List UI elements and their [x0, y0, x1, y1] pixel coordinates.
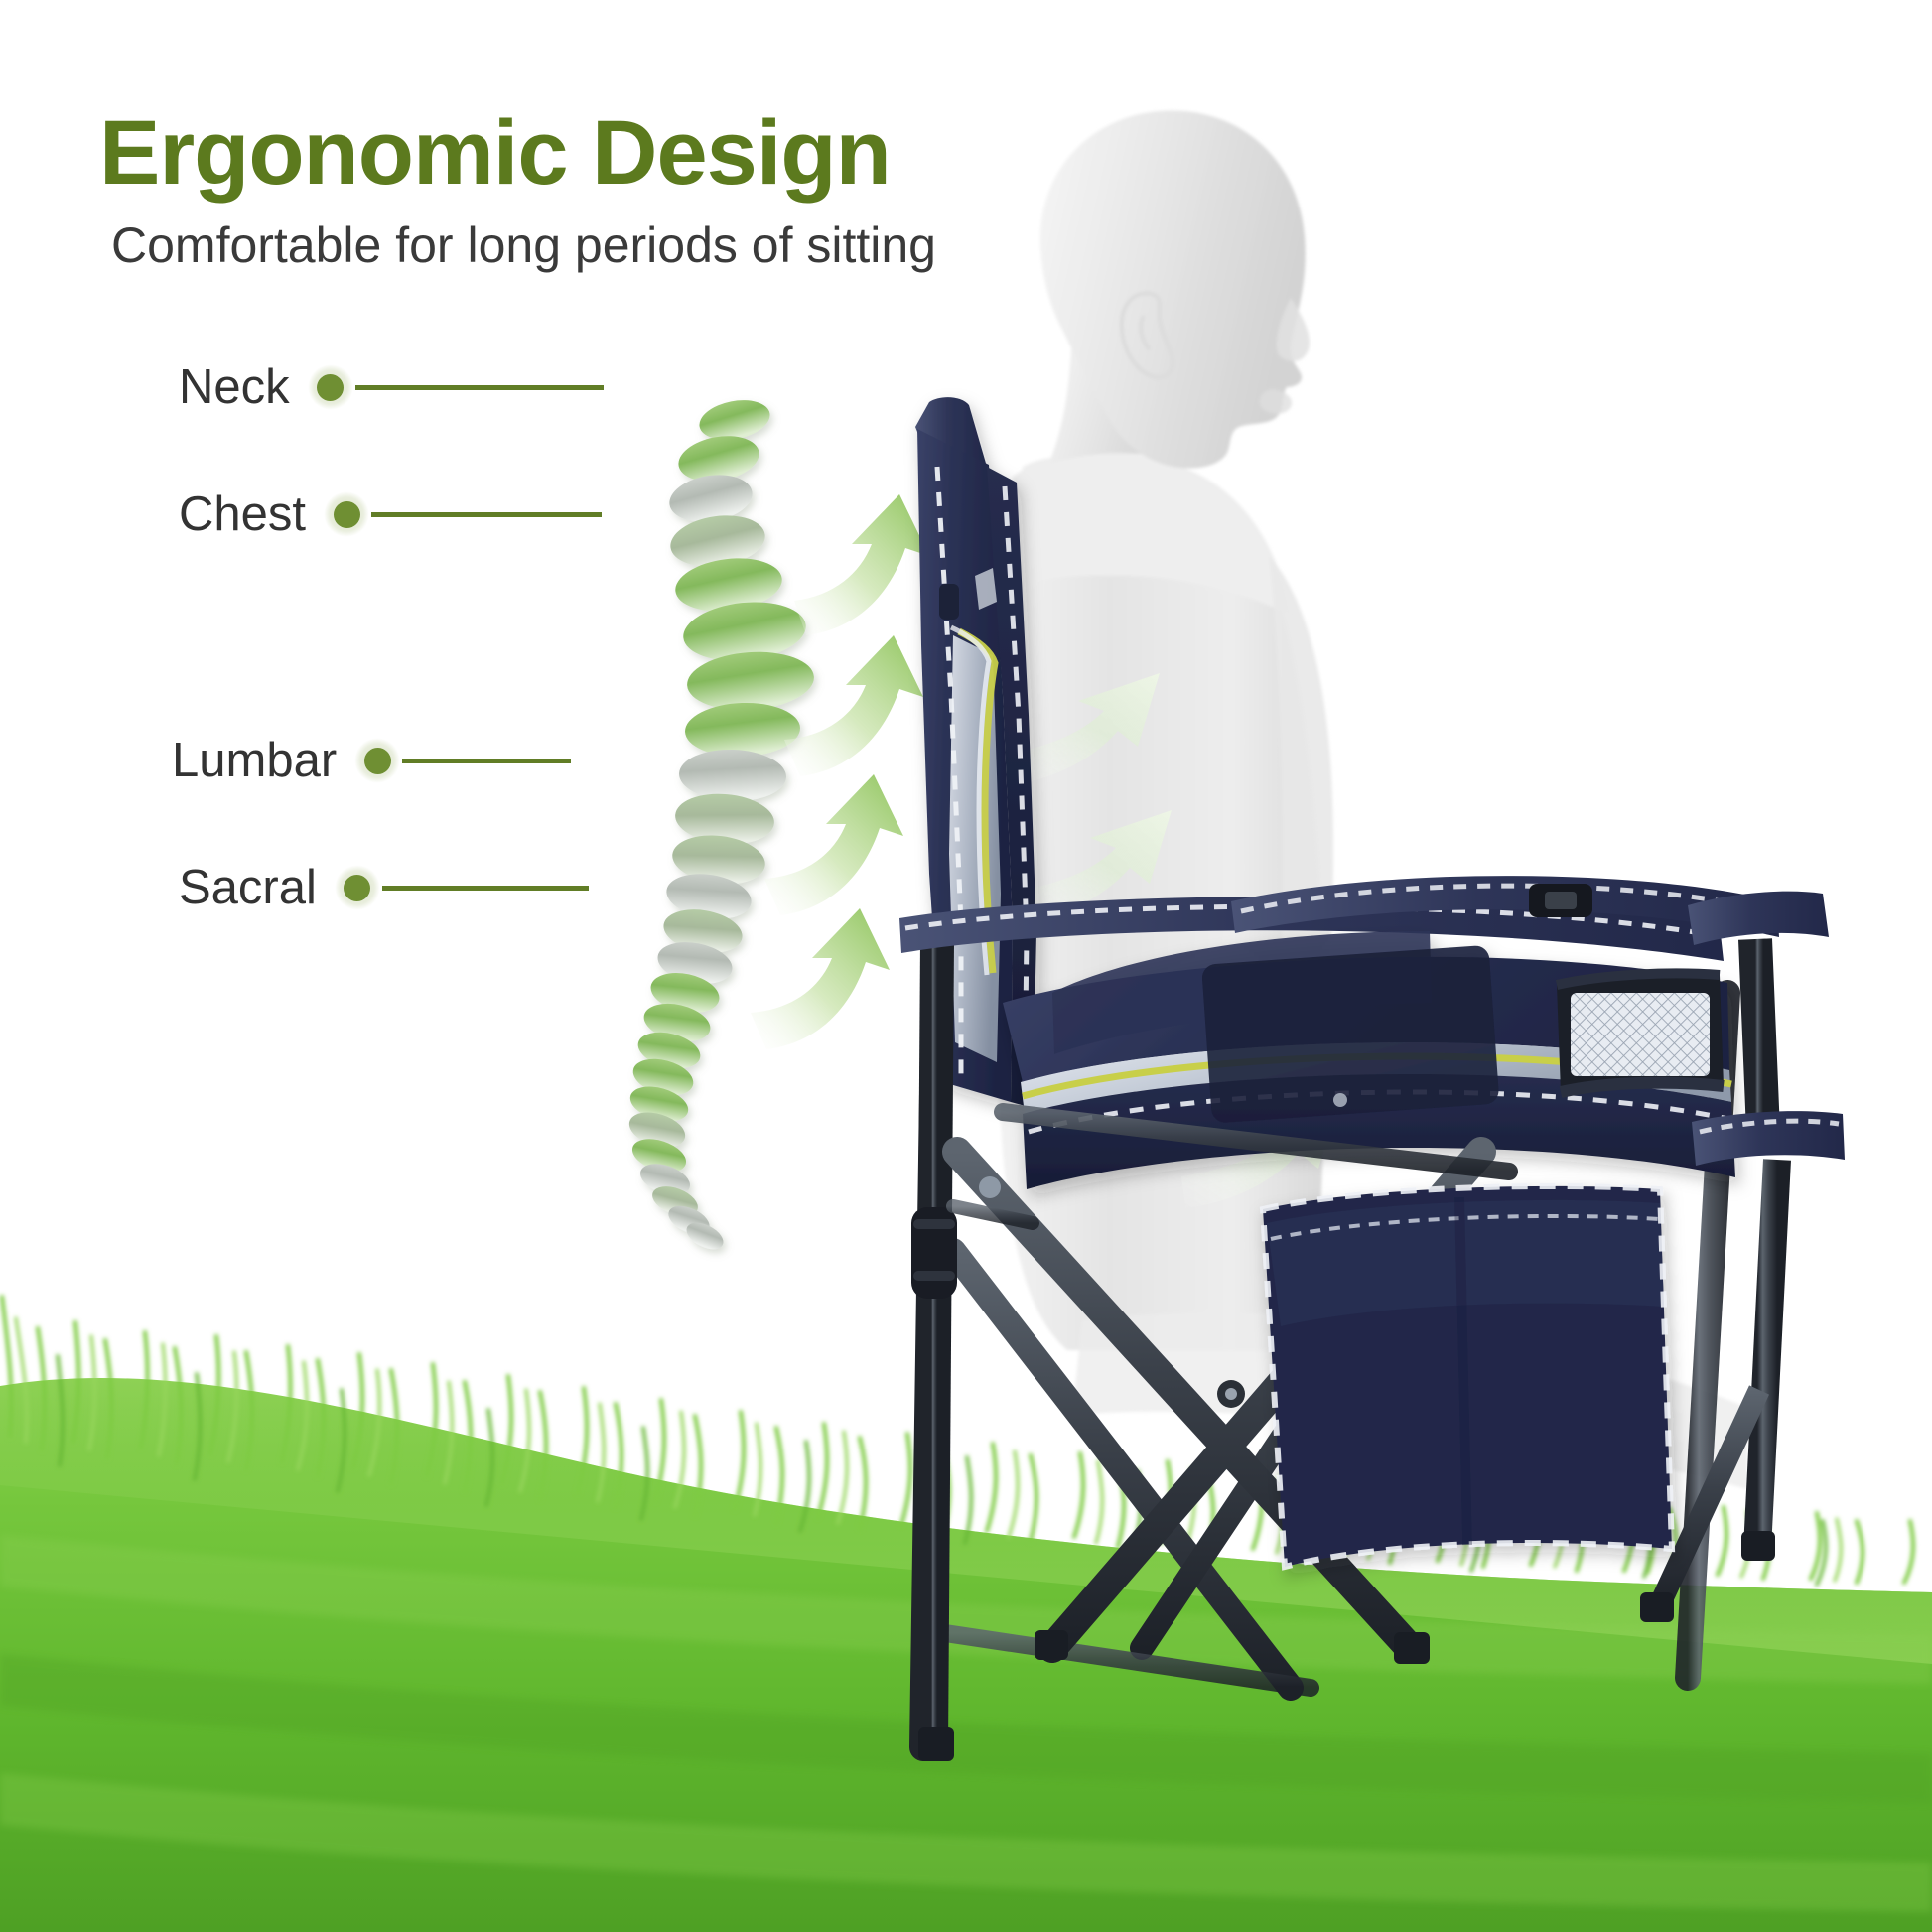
- callout-leader-line: [402, 759, 571, 763]
- page-subtitle: Comfortable for long periods of sitting: [111, 220, 936, 270]
- callout-leader-line: [355, 385, 604, 390]
- callout-leader-line: [382, 886, 589, 891]
- dot-core: [364, 748, 391, 774]
- callout-leader-line: [371, 512, 602, 517]
- callout-marker-dot[interactable]: [308, 364, 353, 410]
- callout-sacral[interactable]: Sacral: [179, 858, 589, 917]
- dot-core: [317, 374, 344, 401]
- callout-marker-dot[interactable]: [354, 738, 400, 783]
- callout-label: Lumbar: [172, 733, 337, 788]
- callout-marker-dot[interactable]: [335, 865, 380, 910]
- callout-lumbar[interactable]: Lumbar: [172, 731, 571, 790]
- callout-label: Chest: [179, 486, 306, 542]
- callout-neck[interactable]: Neck: [179, 357, 604, 417]
- dot-core: [334, 501, 360, 528]
- chair-storage-pocket: [1263, 1186, 1672, 1567]
- dot-core: [344, 875, 370, 901]
- callout-marker-dot[interactable]: [324, 491, 369, 537]
- camping-chair-product-photo[interactable]: [0, 0, 1932, 1932]
- callout-label: Sacral: [179, 860, 317, 915]
- chair-mesh-pocket: [1557, 973, 1724, 1092]
- callout-chest[interactable]: Chest: [179, 484, 602, 544]
- page-title: Ergonomic Design: [99, 107, 891, 199]
- callout-label: Neck: [179, 359, 290, 415]
- infographic-canvas: Ergonomic Design Comfortable for long pe…: [0, 0, 1932, 1932]
